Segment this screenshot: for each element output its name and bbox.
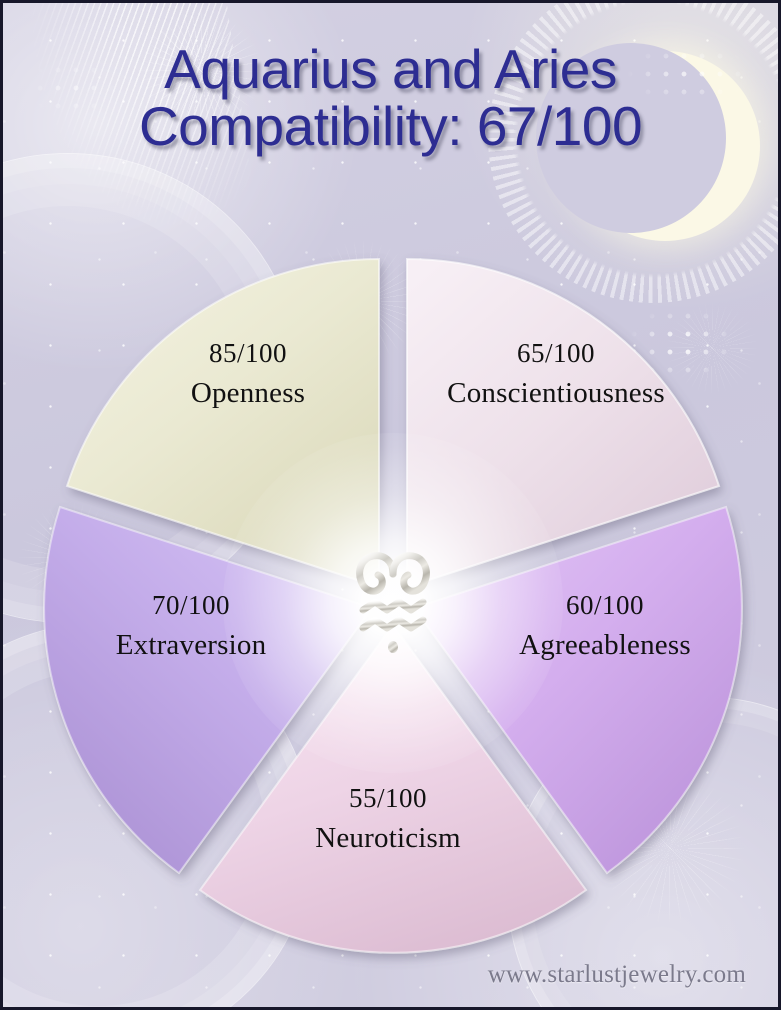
slice-trait-agreeableness: Agreeableness <box>455 626 755 665</box>
slice-label-neuroticism: 55/100 Neuroticism <box>238 778 538 858</box>
slice-label-agreeableness: 60/100 Agreeableness <box>455 585 755 665</box>
slice-score-agreeableness: 60/100 <box>455 585 755 626</box>
compatibility-infographic: Aquarius and Aries Compatibility: 67/100 <box>0 0 781 1010</box>
site-watermark[interactable]: www.starlustjewelry.com <box>488 961 746 989</box>
page-title: Aquarius and Aries Compatibility: 67/100 <box>3 41 778 154</box>
slice-label-openness: 85/100 Openness <box>103 333 393 413</box>
slice-label-extraversion: 70/100 Extraversion <box>51 585 331 665</box>
slice-trait-openness: Openness <box>103 374 393 413</box>
slice-score-neuroticism: 55/100 <box>238 778 538 819</box>
slice-trait-conscientiousness: Conscientiousness <box>391 374 721 413</box>
slice-trait-neuroticism: Neuroticism <box>238 819 538 858</box>
title-line-signs: Aquarius and Aries <box>3 41 778 98</box>
title-line-score: Compatibility: 67/100 <box>3 98 778 155</box>
aries-aquarius-charm-icon <box>345 548 441 654</box>
slice-score-conscientiousness: 65/100 <box>391 333 721 374</box>
slice-label-conscientiousness: 65/100 Conscientiousness <box>391 333 721 413</box>
slice-trait-extraversion: Extraversion <box>51 626 331 665</box>
slice-score-openness: 85/100 <box>103 333 393 374</box>
slice-score-extraversion: 70/100 <box>51 585 331 626</box>
